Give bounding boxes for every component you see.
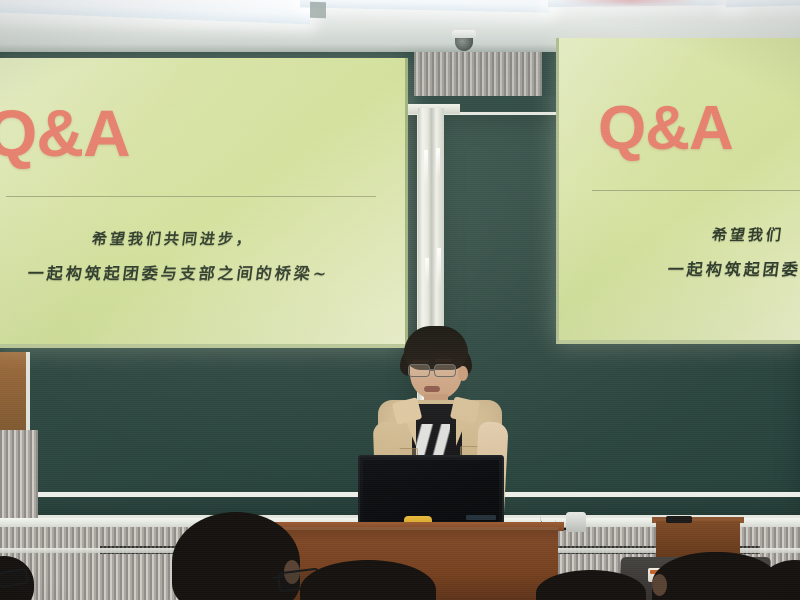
ceiling-light-panel [726,0,800,7]
classroom-presentation-photo: Q&A 希望我们共同进步， 一起构筑起团委与支部之间的桥梁~ Q&A 希望我们 … [0,0,800,600]
glasses-icon [408,364,462,377]
presenter-eyebrow [412,360,429,363]
wooden-door-panel[interactable] [0,352,30,438]
presenter-eyebrow [435,359,452,362]
chalk-tray [0,492,420,497]
glasses-bridge [430,369,435,371]
right-projection-screen [556,38,800,344]
ceiling-light-panel [300,0,550,13]
audience-ear [652,574,667,596]
track-highlight [425,258,429,284]
glasses-lens [408,364,430,377]
slide-body-line1-right: 希望我们 [711,224,786,245]
desk-object [666,516,692,523]
slide-body-line2-left: 一起构筑起团委与支部之间的桥梁~ [27,260,331,284]
presenter-mouth [424,386,440,392]
track-highlight [424,150,428,186]
slide-body-line1-left: 希望我们共同进步， [91,228,256,249]
white-device[interactable] [566,512,586,532]
slide-heading-left: Q&A [0,100,130,166]
monitor-osd-label [466,515,496,520]
track-highlight [437,248,441,288]
glasses-lens [434,364,456,377]
slide-body-line2-right: 一起构筑起团委与 [667,256,800,280]
ceiling-rail [310,2,326,19]
slide-divider-right [592,190,800,191]
ceiling-light-panel [0,0,310,24]
track-highlight [436,148,440,178]
slide-heading-right: Q&A [598,98,733,160]
ceiling-light-glow [560,0,700,4]
slide-divider-left [6,196,376,197]
wall-panel-stripes [414,52,542,98]
